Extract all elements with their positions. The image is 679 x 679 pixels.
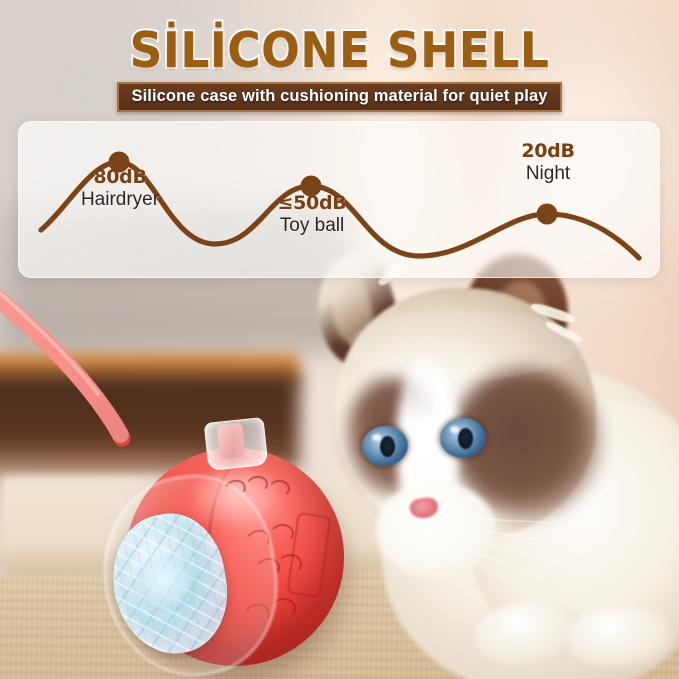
hairdryer-db-caption: Hairdryer <box>61 189 179 211</box>
ball-led-lens <box>103 505 238 662</box>
night-db-value: 20dB <box>489 142 607 162</box>
subtitle-container: Silicone case with cushioning material f… <box>0 82 679 112</box>
cat-forehead-fur <box>348 310 578 380</box>
cat-left-pupil <box>380 436 395 457</box>
cat-photo-subject <box>318 250 679 679</box>
data-point-night <box>537 204 558 225</box>
hairdryer-db-value: 80dB <box>61 168 179 188</box>
toyball-db-caption: Toy ball <box>253 215 371 237</box>
ball-rope-cap <box>204 417 269 471</box>
subtitle-banner: Silicone case with cushioning material f… <box>117 82 561 112</box>
silicone-toy-ball <box>96 418 366 679</box>
page-title: SİLİCONE SHELL <box>24 22 655 79</box>
label-night: 20dB Night <box>489 142 607 185</box>
cat-right-pupil <box>458 428 473 449</box>
night-db-caption: Night <box>489 163 607 185</box>
product-marketing-image: SİLİCONE SHELL Silicone case with cushio… <box>0 0 679 679</box>
cat-left-eye-glint <box>372 434 381 441</box>
toyball-db-value: ≤50dB <box>253 194 371 214</box>
cat-right-eye-glint <box>450 426 459 433</box>
label-hairdryer: 80dB Hairdryer <box>61 168 179 211</box>
label-toyball: ≤50dB Toy ball <box>253 194 371 237</box>
noise-comparison-panel: 80dB Hairdryer ≤50dB Toy ball 20dB Night <box>18 121 660 278</box>
